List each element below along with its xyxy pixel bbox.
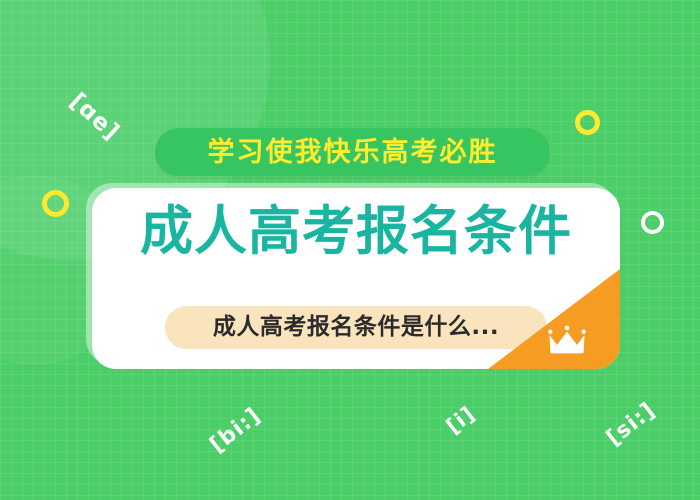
- crown-icon: [547, 325, 587, 355]
- decor-ring-white-right: [641, 211, 664, 234]
- slogan-banner: 学习使我快乐高考必胜: [155, 128, 550, 176]
- page-title: 成人高考报名条件: [92, 205, 620, 258]
- main-card: 成人高考报名条件 成人高考报名条件是什么...: [92, 188, 620, 369]
- slogan-banner-text: 学习使我快乐高考必胜: [208, 139, 498, 166]
- decor-ring-yellow-left: [42, 190, 69, 217]
- subtitle-pill: 成人高考报名条件是什么...: [165, 306, 547, 349]
- decor-ring-yellow-top: [575, 110, 600, 135]
- poster-canvas: [ɑe] [bi:] [i] [si:] 学习使我快乐高考必胜 成人高考报名条件…: [0, 0, 700, 500]
- subtitle-text: 成人高考报名条件是什么...: [213, 316, 499, 339]
